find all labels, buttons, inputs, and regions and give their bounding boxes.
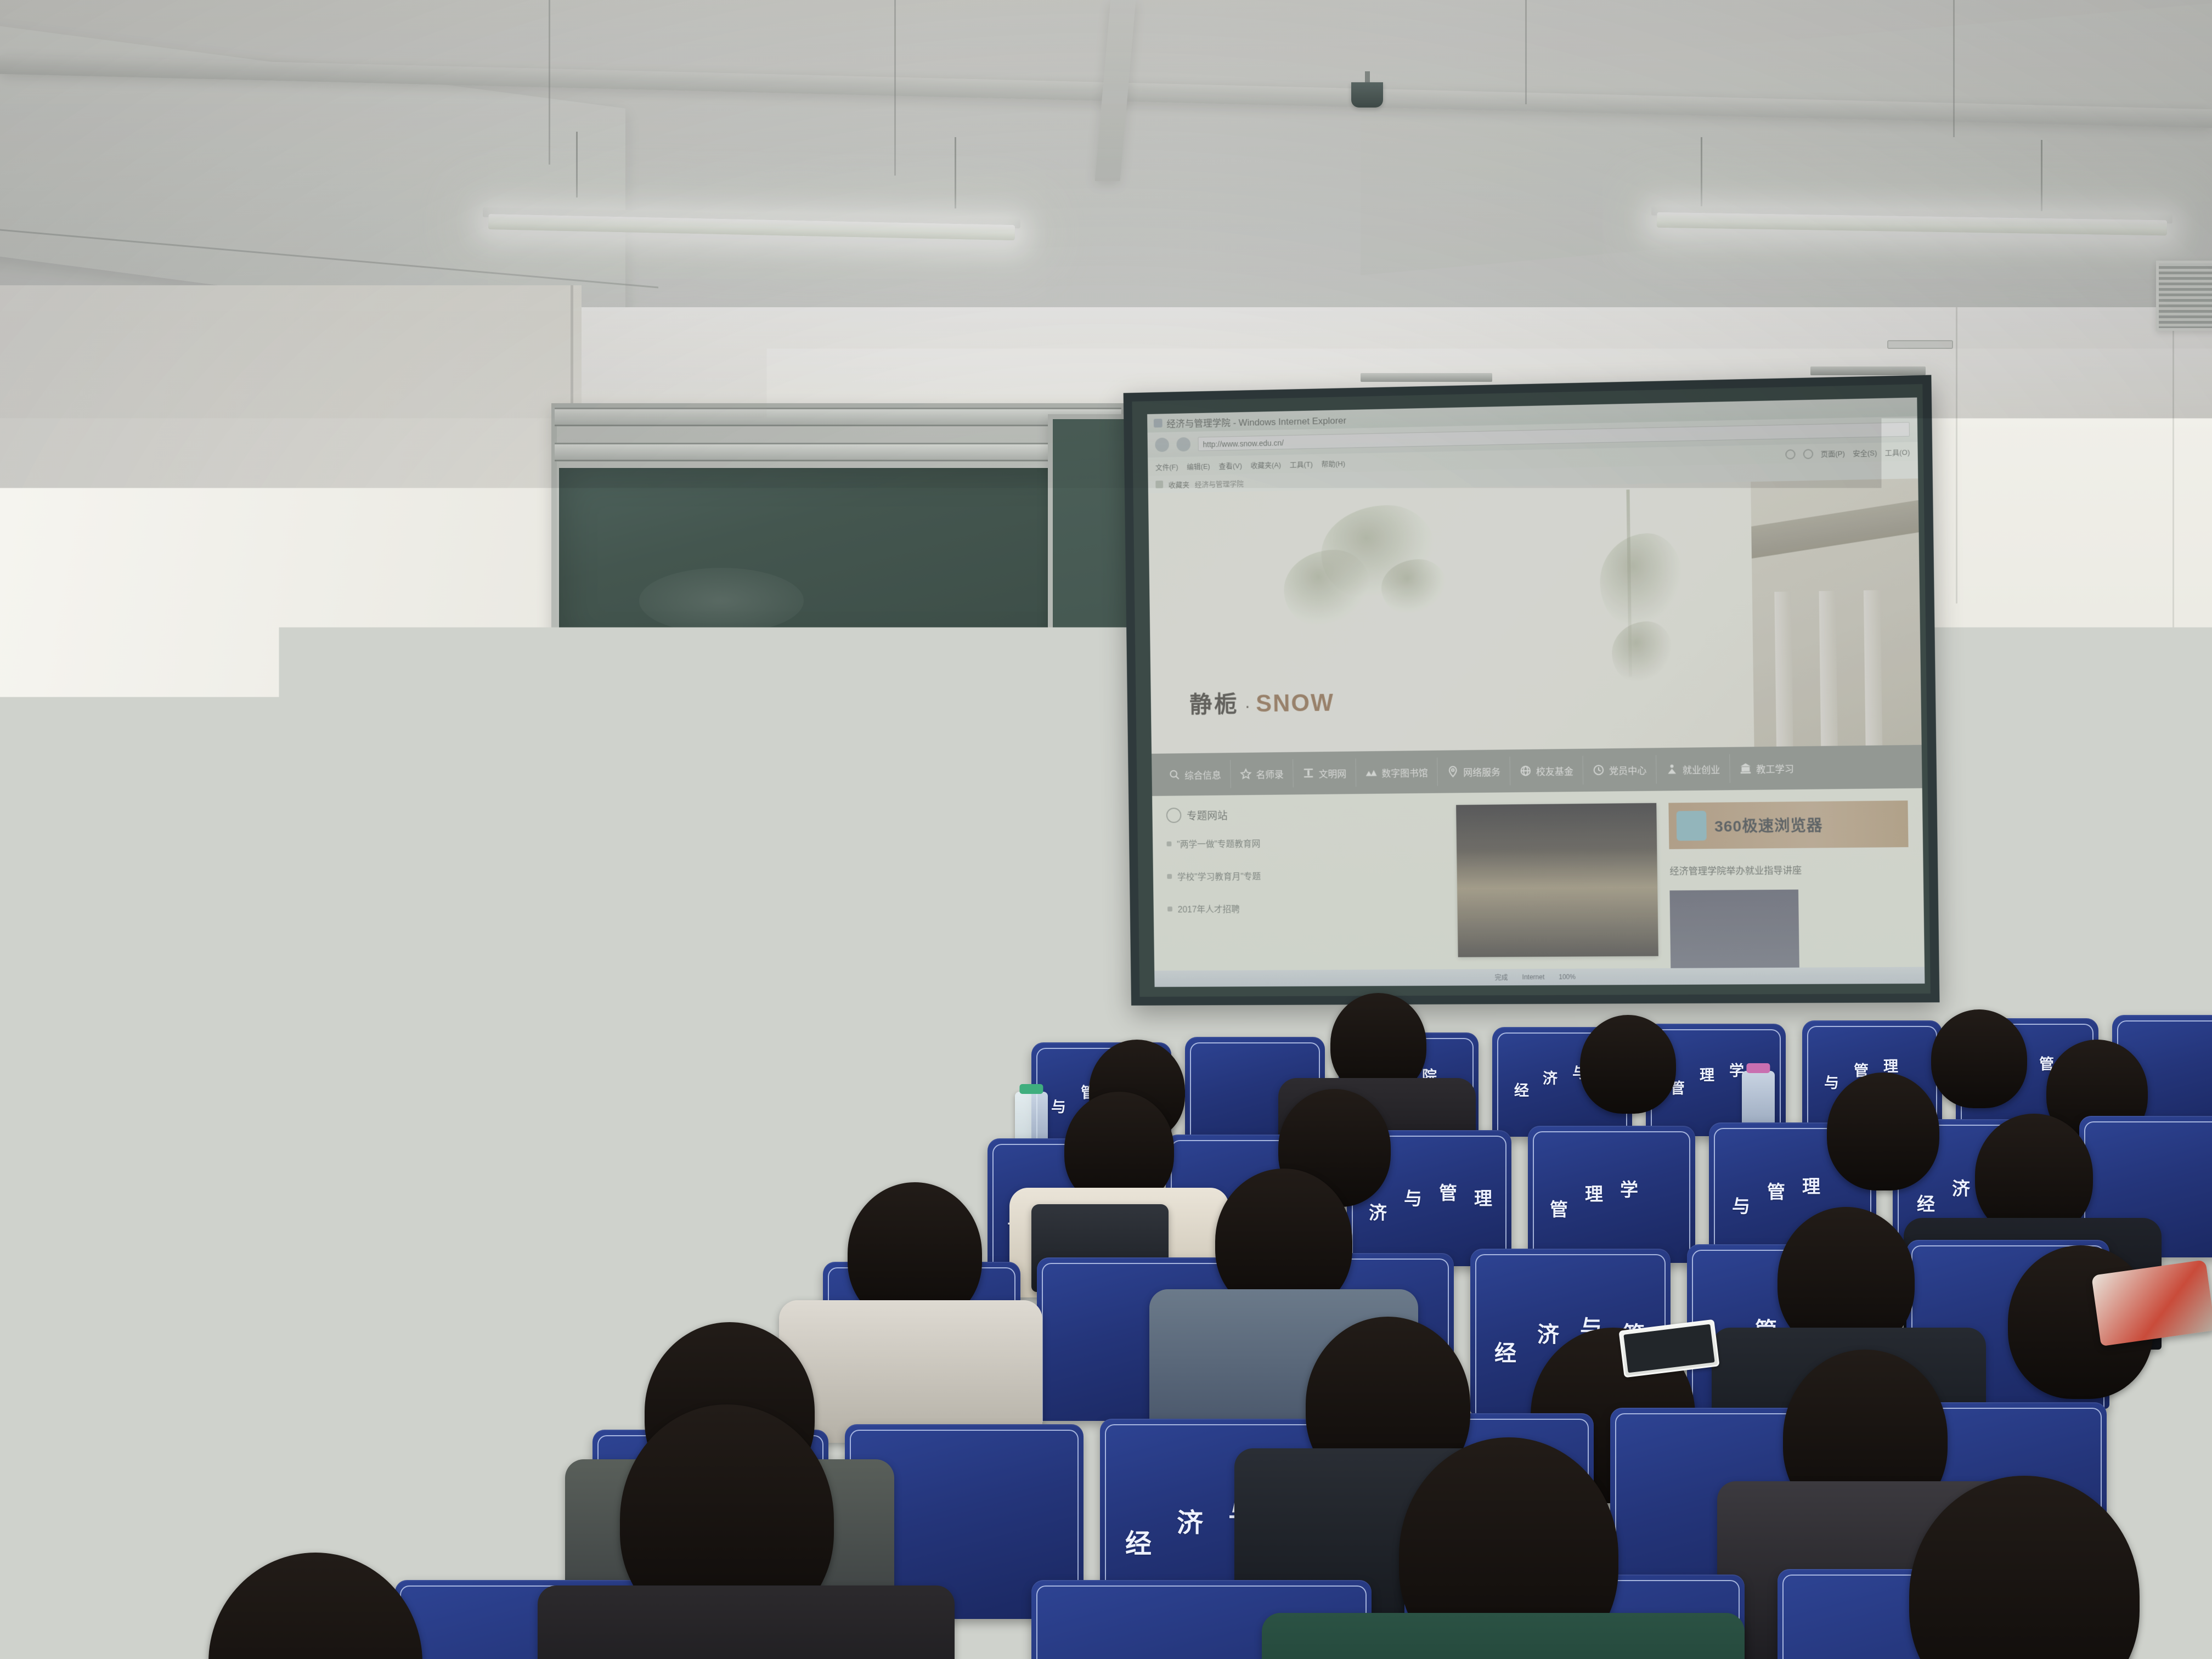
electrical-breaker-panel [472, 1000, 549, 1065]
building-icon [1740, 762, 1752, 774]
menu-item-edit[interactable]: 编辑(E) [1187, 460, 1210, 471]
status-done: 完成 [1495, 973, 1508, 982]
sidebar-link-text-2: 2017年人才招聘 [1178, 902, 1240, 916]
light-stem-right-b [2041, 140, 2042, 211]
nav-item-名师录[interactable]: 名师录 [1231, 759, 1294, 788]
cabinet-vent-1 [49, 1040, 102, 1105]
menu-item-file[interactable]: 文件(F) [1155, 461, 1178, 472]
sidebar-link-1[interactable]: 学校"学习教育月"专题 [1167, 867, 1445, 883]
person-icon [1666, 763, 1678, 775]
chalk-smudge-a [639, 568, 804, 634]
browser-title: 经济与管理学院 - Windows Internet Explorer [1166, 413, 1346, 430]
hero-column-3 [1864, 590, 1882, 746]
cabinet-vent-2 [137, 1040, 190, 1105]
presenter [137, 817, 368, 1015]
command-safety[interactable]: 安全(S) [1853, 447, 1877, 458]
menu-item-view[interactable]: 查看(V) [1218, 460, 1242, 471]
site-logo[interactable]: 静栀 · SNOW [1189, 685, 1334, 720]
site-navigation-bar: 综合信息 名师录 文明网 [1152, 745, 1922, 796]
seat-r2-c7[interactable]: 管 理 学 [1528, 1126, 1695, 1263]
back-button[interactable] [1155, 438, 1169, 452]
search-icon [1169, 769, 1181, 781]
books-icon [1365, 766, 1378, 778]
seat-label-r2-c1: 与 管 理 学 [450, 1152, 614, 1281]
site-logo-cn: 静栀 [1189, 686, 1239, 720]
ad-banner[interactable]: 360极速浏览器 [1669, 800, 1909, 849]
menu-item-favorites[interactable]: 收藏夹(A) [1250, 459, 1281, 470]
blackboard [551, 403, 1125, 946]
hero-foliage-e [1611, 621, 1673, 682]
sidebar-heading-icon [1166, 808, 1182, 823]
ceiling-seam-a [549, 0, 550, 165]
presenter-hair-left [166, 830, 200, 956]
browser-ad-icon [1677, 811, 1707, 841]
presenter-hair-right [237, 830, 273, 957]
hero-column-2 [1819, 591, 1837, 746]
clock-icon [1593, 764, 1605, 776]
nav-item-党员中心[interactable]: 党员中心 [1583, 755, 1657, 785]
home-icon[interactable] [1785, 449, 1795, 460]
bottle-cap-green [1019, 1084, 1043, 1094]
nav-label-6: 党员中心 [1609, 763, 1647, 777]
air-conditioner-grille-icon [2156, 261, 2212, 331]
ad-banner-text: 360极速浏览器 [1714, 814, 1823, 837]
menu-item-tools[interactable]: 工具(T) [1290, 458, 1313, 469]
sidebar-link-0[interactable]: "两学一做"专题教育网 [1166, 834, 1444, 850]
nav-item-数字图书馆[interactable]: 数字图书馆 [1356, 758, 1438, 787]
bullet-icon [1167, 906, 1172, 911]
site-news-column: 360极速浏览器 经济管理学院举办就业指导讲座 [1669, 800, 1910, 956]
student-head-r1-a [795, 980, 902, 1090]
browser-status-bar: 完成 Internet 100% [1154, 967, 1925, 987]
nav-label-5: 校友基金 [1536, 764, 1573, 778]
hero-column-1 [1774, 591, 1793, 747]
blackboard-divider [559, 650, 1117, 661]
blackboard-handle[interactable] [872, 913, 900, 921]
projected-browser-window: 经济与管理学院 - Windows Internet Explorer http… [1147, 398, 1925, 988]
seat-label-r2-c2: 管 理 学 院 [628, 1147, 793, 1278]
menu-item-help[interactable]: 帮助(H) [1321, 458, 1345, 469]
glasses-bridge [216, 865, 226, 866]
sidebar-link-2[interactable]: 2017年人才招聘 [1167, 900, 1446, 915]
nav-label-1: 名师录 [1256, 766, 1283, 780]
blackboard-top-rail [555, 408, 1121, 426]
news-headline[interactable]: 经济管理学院举办就业指导讲座 [1669, 861, 1909, 877]
sidebar-heading-row: 专题网站 [1166, 805, 1444, 823]
seat-r2-c1[interactable]: 与 管 理 学 [450, 1152, 614, 1281]
ceiling-speaker-icon [1351, 82, 1383, 108]
monument-icon [1302, 767, 1314, 779]
magazine-on-desk[interactable] [2091, 1260, 2212, 1346]
favorites-item[interactable]: 经济与管理学院 [1195, 478, 1244, 489]
nav-item-网络服务[interactable]: 网络服务 [1437, 757, 1510, 786]
seat-label-r1-c0: 管 理 [472, 1059, 609, 1160]
nav-item-文明网[interactable]: 文明网 [1293, 759, 1356, 788]
lecture-hall-photo: 经济与管理学院 - Windows Internet Explorer http… [0, 0, 2212, 1659]
nav-item-校友基金[interactable]: 校友基金 [1510, 756, 1584, 785]
nav-label-0: 综合信息 [1184, 768, 1221, 781]
hero-building-photo [1751, 478, 1922, 747]
feeds-icon[interactable] [1803, 449, 1813, 459]
site-photo-column[interactable] [1456, 803, 1658, 957]
light-stem-left-a [576, 132, 578, 198]
screen-mount-right [1810, 366, 1926, 375]
nav-label-7: 就业创业 [1683, 762, 1720, 776]
sidebar-link-text-1: 学校"学习教育月"专题 [1177, 869, 1261, 883]
student-head-r1-d [1580, 1015, 1676, 1114]
bullet-icon [1167, 841, 1172, 846]
student-head-r2-a [93, 1103, 206, 1221]
floor [0, 1549, 2212, 1659]
glasses-lens-right [226, 859, 248, 873]
seat-r2-c2[interactable]: 管 理 学 院 [628, 1147, 793, 1278]
site-logo-en: SNOW [1256, 690, 1334, 718]
nav-label-4: 网络服务 [1463, 764, 1500, 778]
status-zoom[interactable]: 100% [1559, 973, 1576, 981]
light-stem-left-b [955, 137, 956, 208]
student-head-r2-e [1827, 1073, 1939, 1190]
blackboard-surface-upper [559, 468, 1117, 650]
cabinet-vent-3 [368, 1041, 420, 1107]
command-tools[interactable]: 工具(O) [1884, 447, 1910, 458]
favorites-label: 收藏夹 [1169, 479, 1189, 490]
wall-seam-far-right [2172, 307, 2174, 691]
wall-notice-plate [1887, 340, 1953, 349]
site-photo-thumbnail [1456, 803, 1658, 957]
location-icon [1447, 765, 1459, 777]
student-torso-r3-b [779, 1300, 1042, 1443]
sidebar-heading: 专题网站 [1187, 808, 1228, 822]
site-logo-separator: · [1244, 696, 1251, 717]
ceiling-seam-c [1525, 0, 1527, 104]
student-head-r1-e [1931, 1009, 2027, 1108]
ceiling-seam-b [894, 0, 896, 176]
star-icon [1240, 768, 1252, 780]
sidebar-link-text-0: "两学一做"专题教育网 [1177, 836, 1261, 850]
chalk-smudge-b [837, 743, 1023, 826]
status-zone: Internet [1522, 973, 1544, 981]
ie-logo-icon [1154, 419, 1163, 427]
hero-foliage-d [1599, 533, 1683, 628]
student-head-r1-g [219, 996, 321, 1105]
command-page[interactable]: 页面(P) [1821, 448, 1845, 459]
seat-label-r2-c7: 管 理 学 [1528, 1126, 1695, 1263]
bottle-cap-pink [1746, 1063, 1770, 1073]
site-sidebar: 专题网站 "两学一做"专题教育网 学校"学习教育月"专题 2017年人才招聘 [1166, 805, 1446, 958]
screen-mount-left [1361, 373, 1492, 382]
nav-label-2: 文明网 [1319, 766, 1347, 780]
site-hero-banner: 静栀 · SNOW [1148, 478, 1922, 754]
glasses-lens-left [194, 859, 216, 873]
forward-button[interactable] [1176, 437, 1190, 452]
nav-item-就业创业[interactable]: 就业创业 [1656, 754, 1730, 784]
favorites-star-icon[interactable] [1155, 481, 1163, 488]
nav-label-3: 数字图书馆 [1381, 765, 1428, 779]
finger-4 [294, 909, 301, 921]
nav-label-8: 教工学习 [1756, 761, 1794, 775]
electrical-label-tag [548, 1040, 568, 1047]
blackboard-chalk-tray [549, 908, 1127, 928]
orange-jacket-tag [814, 1107, 843, 1118]
nav-item-教工学习[interactable]: 教工学习 [1730, 753, 1803, 783]
ceiling-seam-d [1953, 0, 1955, 137]
site-content-area: 专题网站 "两学一做"专题教育网 学校"学习教育月"专题 2017年人才招聘 [1152, 788, 1925, 971]
hero-building-eave [1751, 500, 1918, 559]
bottle-cap-blue [555, 1260, 589, 1269]
seat-r1-c0[interactable]: 管 理 [472, 1059, 609, 1160]
projection-screen: 经济与管理学院 - Windows Internet Explorer http… [1124, 375, 1940, 1005]
bullet-icon [1167, 874, 1172, 879]
hero-foliage-b [1283, 549, 1371, 627]
light-stem-right-a [1701, 137, 1702, 208]
globe-icon [1520, 765, 1532, 777]
nav-item-综合信息[interactable]: 综合信息 [1159, 760, 1231, 789]
blackboard-top-rail-2 [555, 443, 1121, 461]
wall-seam-right [1956, 307, 1957, 603]
presenter-glasses-icon [194, 859, 248, 873]
